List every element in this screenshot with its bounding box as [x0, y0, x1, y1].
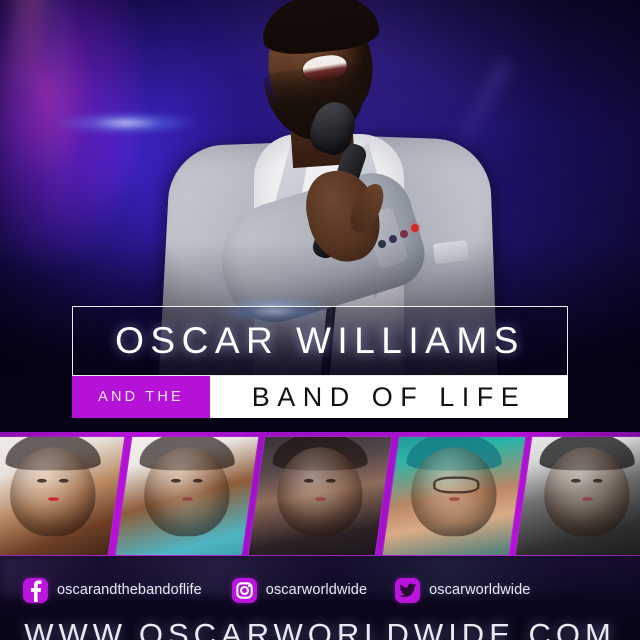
band-member-4	[382, 437, 524, 555]
eye-left	[171, 479, 180, 483]
connector-badge: AND THE	[72, 376, 210, 418]
eye-right	[326, 479, 335, 483]
social-links-row: oscarandthebandoflife oscarworldwide osc…	[0, 570, 640, 610]
band-name-banner: BAND OF LIFE	[210, 376, 568, 418]
instagram-handle[interactable]: oscarworldwide	[266, 582, 367, 598]
band-member-5	[516, 437, 640, 555]
lips	[181, 497, 192, 501]
band-member-list	[0, 432, 640, 560]
band-member-1	[0, 437, 124, 555]
lips	[582, 497, 593, 501]
page-title: OSCAR WILLIAMS	[115, 320, 525, 362]
eye-right	[192, 479, 201, 483]
lips	[315, 497, 326, 501]
face	[143, 447, 229, 536]
band-member-photo-3[interactable]	[249, 437, 391, 555]
eye-left	[572, 479, 581, 483]
eye-left	[37, 479, 46, 483]
band-member-photo-4[interactable]	[382, 437, 524, 555]
band-member-strip	[0, 432, 640, 560]
strip-light-glow	[56, 112, 196, 134]
twitter-icon[interactable]	[395, 578, 420, 603]
band-member-3	[249, 437, 391, 555]
face	[277, 447, 363, 536]
lips	[48, 497, 59, 501]
title-block: OSCAR WILLIAMS AND THE BAND OF LIFE	[72, 306, 568, 418]
twitter-handle[interactable]: oscarworldwide	[429, 582, 530, 598]
facebook-handle[interactable]: oscarandthebandoflife	[57, 582, 202, 598]
social-link-facebook[interactable]: oscarandthebandoflife	[23, 578, 202, 603]
facebook-icon[interactable]	[23, 578, 48, 603]
website-url[interactable]: WWW.OSCARWORLDWIDE.COM	[0, 617, 640, 640]
eyeglasses-icon	[433, 476, 479, 492]
band-member-2	[115, 437, 257, 555]
artist-name-box: OSCAR WILLIAMS	[72, 306, 568, 376]
subtitle-row: AND THE BAND OF LIFE	[72, 376, 568, 418]
face	[10, 447, 96, 536]
eye-left	[305, 479, 314, 483]
band-member-photo-2[interactable]	[115, 437, 257, 555]
eye-right	[593, 479, 602, 483]
eye-right	[59, 479, 68, 483]
band-member-photo-5[interactable]	[516, 437, 640, 555]
social-link-instagram[interactable]: oscarworldwide	[232, 578, 367, 603]
poster-canvas: OSCAR WILLIAMS AND THE BAND OF LIFE	[0, 0, 640, 640]
band-member-photo-1[interactable]	[0, 437, 124, 555]
face	[411, 447, 497, 536]
social-link-twitter[interactable]: oscarworldwide	[395, 578, 530, 603]
lips	[448, 497, 459, 501]
instagram-icon[interactable]	[232, 578, 257, 603]
